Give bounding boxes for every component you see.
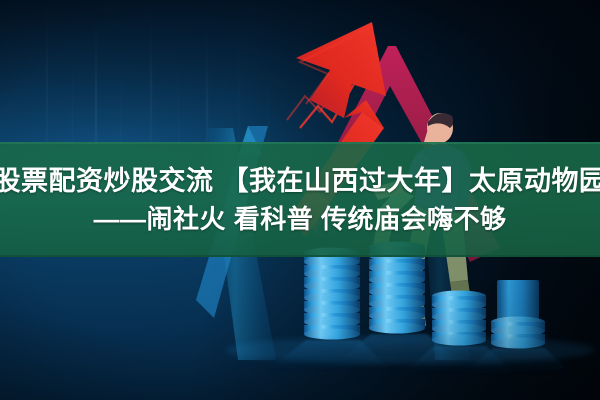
caption-line-2: ——闹社火 看科普 传统庙会嗨不够	[94, 202, 507, 236]
caption-line-1: 股票配资炒股交流 【我在山西过大年】太原动物园	[0, 164, 600, 198]
banner-image: 股票配资炒股交流 【我在山西过大年】太原动物园 ——闹社火 看科普 传统庙会嗨不…	[0, 0, 600, 400]
caption-text-block: 股票配资炒股交流 【我在山西过大年】太原动物园 ——闹社火 看科普 传统庙会嗨不…	[0, 142, 600, 257]
